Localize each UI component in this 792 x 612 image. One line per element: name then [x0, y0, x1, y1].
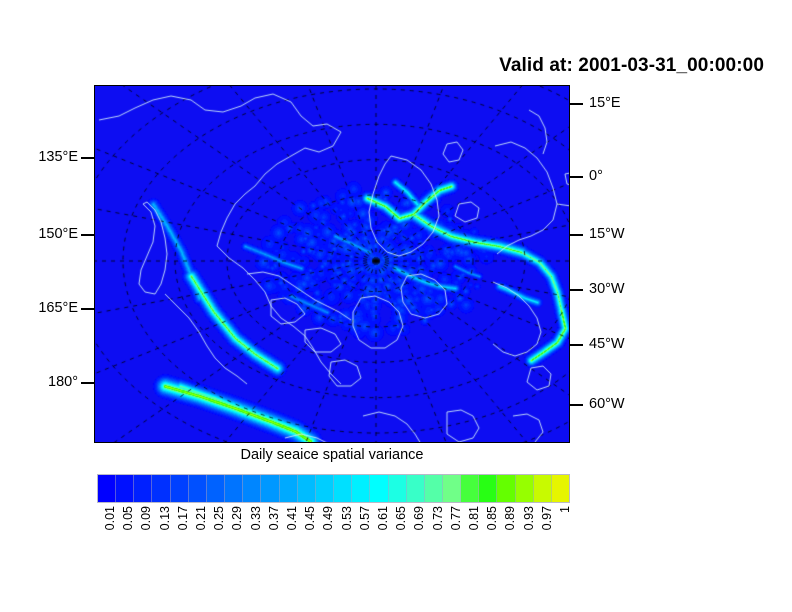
- colorbar-cell: [171, 475, 189, 502]
- colorbar: [97, 474, 570, 503]
- colorbar-cell: [225, 475, 243, 502]
- left-tick-mark: [81, 308, 94, 310]
- colorbar-tick-label: 0.17: [176, 506, 190, 530]
- colorbar-tick-label: 0.77: [449, 506, 463, 530]
- colorbar-cell: [389, 475, 407, 502]
- colorbar-cell: [207, 475, 225, 502]
- colorbar-tick-label: 0.53: [340, 506, 354, 530]
- colorbar-cell: [370, 475, 388, 502]
- seaice-variance-map: [95, 86, 570, 443]
- colorbar-tick-label: 0.37: [267, 506, 281, 530]
- colorbar-tick-label: 0.45: [303, 506, 317, 530]
- colorbar-tick-label: 0.85: [485, 506, 499, 530]
- colorbar-cell: [479, 475, 497, 502]
- colorbar-tick-labels: 0.010.050.090.130.170.210.250.290.330.37…: [97, 506, 570, 576]
- colorbar-tick-label: 0.81: [467, 506, 481, 530]
- colorbar-tick-label: 0.21: [194, 506, 208, 530]
- right-axis-label: 60°W: [589, 396, 625, 412]
- right-axis-label: 30°W: [589, 281, 625, 297]
- colorbar-cell: [534, 475, 552, 502]
- colorbar-cell: [280, 475, 298, 502]
- colorbar-tick-label: 0.13: [158, 506, 172, 530]
- left-tick-mark: [81, 157, 94, 159]
- left-tick-mark: [81, 234, 94, 236]
- colorbar-tick-label: 1: [558, 506, 572, 513]
- colorbar-cell: [98, 475, 116, 502]
- colorbar-cell: [316, 475, 334, 502]
- left-axis-label: 135°E: [38, 149, 78, 165]
- colorbar-tick-label: 0.25: [212, 506, 226, 530]
- right-tick-mark: [570, 176, 583, 178]
- colorbar-cell: [134, 475, 152, 502]
- colorbar-tick-label: 0.01: [103, 506, 117, 530]
- colorbar-cell: [243, 475, 261, 502]
- colorbar-cell: [516, 475, 534, 502]
- right-axis-label: 15°E: [589, 95, 621, 111]
- colorbar-tick-label: 0.29: [230, 506, 244, 530]
- right-tick-mark: [570, 234, 583, 236]
- right-axis-label: 15°W: [589, 226, 625, 242]
- right-tick-mark: [570, 344, 583, 346]
- colorbar-tick-label: 0.05: [121, 506, 135, 530]
- colorbar-cell: [425, 475, 443, 502]
- colorbar-tick-label: 0.61: [376, 506, 390, 530]
- colorbar-cell: [116, 475, 134, 502]
- colorbar-tick-label: 0.97: [540, 506, 554, 530]
- colorbar-tick-label: 0.93: [522, 506, 536, 530]
- page-title: Valid at: 2001-03-31_00:00:00: [499, 55, 764, 77]
- colorbar-tick-label: 0.57: [358, 506, 372, 530]
- colorbar-cell: [552, 475, 569, 502]
- colorbar-cell: [298, 475, 316, 502]
- right-tick-mark: [570, 289, 583, 291]
- colorbar-tick-label: 0.33: [249, 506, 263, 530]
- colorbar-cell: [443, 475, 461, 502]
- right-axis-label: 0°: [589, 168, 603, 184]
- right-axis-label: 45°W: [589, 336, 625, 352]
- colorbar-cell: [461, 475, 479, 502]
- left-axis-label: 150°E: [38, 226, 78, 242]
- colorbar-cell: [407, 475, 425, 502]
- colorbar-cell: [352, 475, 370, 502]
- colorbar-cell: [152, 475, 170, 502]
- left-tick-mark: [81, 382, 94, 384]
- left-axis-label: 165°E: [38, 300, 78, 316]
- colorbar-cell: [261, 475, 279, 502]
- colorbar-tick-label: 0.65: [394, 506, 408, 530]
- colorbar-tick-label: 0.41: [285, 506, 299, 530]
- colorbar-cell: [497, 475, 515, 502]
- colorbar-cell: [189, 475, 207, 502]
- left-axis-label: 180°: [48, 374, 78, 390]
- colorbar-tick-label: 0.09: [139, 506, 153, 530]
- colorbar-tick-label: 0.73: [431, 506, 445, 530]
- right-tick-mark: [570, 404, 583, 406]
- colorbar-cell: [334, 475, 352, 502]
- map-plot-area: [94, 85, 570, 443]
- colorbar-tick-label: 0.49: [321, 506, 335, 530]
- right-tick-mark: [570, 103, 583, 105]
- axis-caption: Daily seaice spatial variance: [94, 447, 570, 463]
- colorbar-tick-label: 0.89: [503, 506, 517, 530]
- colorbar-tick-label: 0.69: [412, 506, 426, 530]
